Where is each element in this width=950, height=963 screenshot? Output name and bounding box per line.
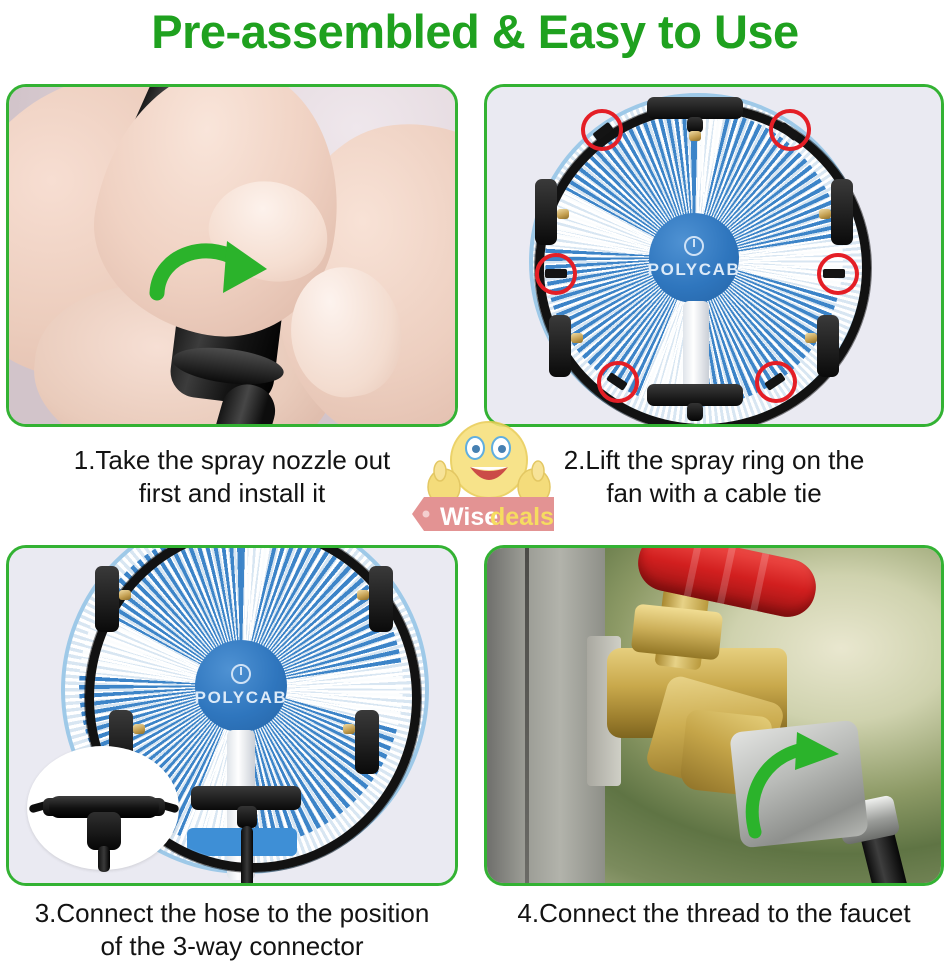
- brass-nozzle-upper-left: [119, 590, 131, 600]
- wall-crack: [525, 548, 529, 883]
- connector-upper-left: [535, 179, 557, 245]
- connector-lower-left: [549, 315, 571, 377]
- tee-stub-bottom: [687, 403, 703, 421]
- highlight-circle-6: [755, 361, 797, 403]
- step-3-photo: POLYCAB: [9, 548, 455, 883]
- brass-nozzle-upper-right: [357, 590, 369, 600]
- step-2-caption-line-1: 2.Lift the spray ring on the: [484, 444, 944, 477]
- highlight-circle-1: [581, 109, 623, 151]
- brass-nozzle-lower-right: [343, 724, 355, 734]
- smiley-eye-left: [466, 437, 484, 459]
- handle-rib: [717, 548, 736, 604]
- step-panel-3: POLYCAB: [6, 545, 458, 886]
- step-4-photo: [487, 548, 941, 883]
- step-panel-4: [484, 545, 944, 886]
- page-title: Pre-assembled & Easy to Use: [0, 0, 950, 62]
- step-2-caption-line-2: fan with a cable tie: [484, 477, 944, 510]
- step-4-caption: 4.Connect the thread to the faucet: [484, 897, 944, 930]
- brass-nozzle-lower-left: [571, 333, 583, 343]
- tee-stub-bottom: [237, 806, 257, 828]
- step-1-caption-line-2: first and install it: [6, 477, 458, 510]
- brass-nozzle-top: [689, 131, 701, 141]
- highlight-circle-2: [769, 109, 811, 151]
- brass-nozzle-upper-left: [557, 209, 569, 219]
- step-1-photo: [9, 87, 455, 424]
- brass-nozzle-upper-right: [819, 209, 831, 219]
- step-3-caption-line-1: 3.Connect the hose to the position: [6, 897, 458, 930]
- highlight-circle-3: [535, 253, 577, 295]
- step-3-caption-line-2: of the 3-way connector: [6, 930, 458, 963]
- connector-lower-right: [817, 315, 839, 377]
- rotate-arrow-icon: [149, 235, 279, 315]
- connector-upper-right: [831, 179, 853, 245]
- handle-rib: [750, 553, 769, 611]
- step-1-caption-line-1: 1.Take the spray nozzle out: [6, 444, 458, 477]
- faucet-hex-nut: [631, 604, 724, 661]
- brass-nozzle-lower-left: [133, 724, 145, 734]
- inset-hose-stub: [98, 846, 110, 872]
- connector-upper-right: [369, 566, 393, 632]
- connector-upper-left: [95, 566, 119, 632]
- step-2-photo: POLYCAB: [487, 87, 941, 424]
- step-4-caption-line-1: 4.Connect the thread to the faucet: [484, 897, 944, 930]
- supply-hose: [241, 826, 253, 883]
- step-panel-1: [6, 84, 458, 427]
- brass-nozzle-lower-right: [805, 333, 817, 343]
- step-panel-2: POLYCAB: [484, 84, 944, 427]
- smiley-pupil-left: [472, 445, 480, 453]
- step-1-caption: 1.Take the spray nozzle out first and in…: [6, 444, 458, 510]
- highlight-circle-4: [817, 253, 859, 295]
- tee-connector-inset: [27, 746, 179, 870]
- inset-tee-drop-port: [87, 812, 121, 850]
- handle-rib: [684, 548, 703, 597]
- connector-lower-right: [355, 710, 379, 774]
- tag-hole: [423, 511, 430, 518]
- step-3-caption: 3.Connect the hose to the position of th…: [6, 897, 458, 963]
- tee-connector-top: [647, 97, 743, 119]
- screw-on-arrow-icon: [739, 732, 851, 840]
- step-2-caption: 2.Lift the spray ring on the fan with a …: [484, 444, 944, 510]
- highlight-circle-5: [597, 361, 639, 403]
